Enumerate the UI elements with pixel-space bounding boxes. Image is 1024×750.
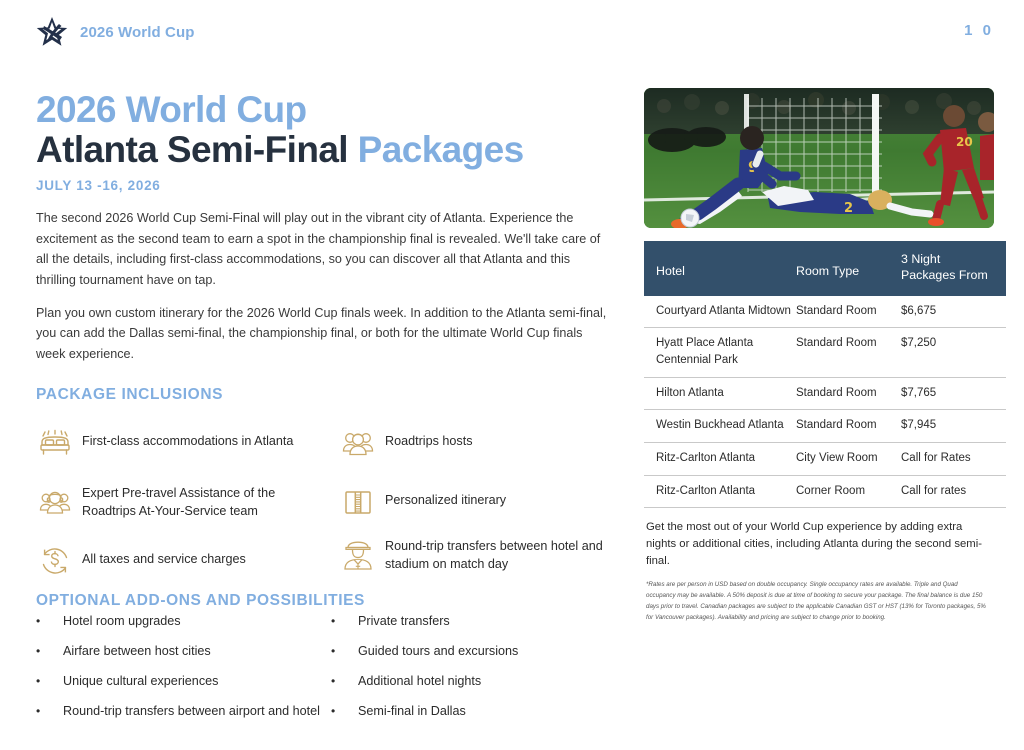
open-book-itinerary-icon — [339, 483, 377, 521]
page-number: 1 0 — [964, 22, 994, 39]
cell-price: $6,675 — [901, 296, 1006, 328]
cell-price: $7,945 — [901, 410, 1006, 443]
package-inclusions-list: First-class accommodations in Atlanta R — [36, 418, 616, 583]
bullet-icon: • — [36, 644, 63, 659]
inclusion-item-transfers: Round-trip transfers between hotel and s… — [339, 536, 629, 574]
column-header-room-type: Room Type — [796, 241, 901, 296]
inclusion-label: First-class accommodations in Atlanta — [82, 424, 293, 450]
cell-hotel: Hyatt Place Atlanta Centennial Park — [644, 328, 796, 377]
addon-label: Hotel room upgrades — [63, 614, 181, 629]
optional-addons-list: • Hotel room upgrades • Airfare between … — [36, 614, 626, 734]
addon-label: Additional hotel nights — [358, 674, 481, 689]
addon-label: Private transfers — [358, 614, 450, 629]
cell-price: $7,250 — [901, 328, 1006, 377]
addon-label: Round-trip transfers between airport and… — [63, 704, 320, 719]
support-agent-icon — [36, 483, 74, 521]
bullet-icon: • — [36, 614, 63, 629]
left-content-column: 2026 World Cup Atlanta Semi-Final Packag… — [36, 90, 612, 583]
inclusion-item-hosts: Roadtrips hosts — [339, 424, 629, 462]
price-header-line-2: Packages From — [901, 268, 988, 282]
addons-column-left: • Hotel room upgrades • Airfare between … — [36, 614, 331, 734]
rates-fineprint-disclaimer: *Rates are per person in USD based on do… — [644, 580, 986, 623]
bullet-icon: • — [36, 704, 63, 719]
page-title-line-1: 2026 World Cup — [36, 90, 612, 129]
inclusion-item-pretravel-assistance: Expert Pre-travel Assistance of the Road… — [36, 483, 326, 521]
inclusion-label: Personalized itinerary — [385, 483, 506, 509]
price-header-line-1: 3 Night — [901, 252, 940, 266]
bullet-icon: • — [331, 674, 358, 689]
intro-paragraph-2: Plan you own custom itinerary for the 20… — [36, 303, 612, 364]
inclusion-label: Expert Pre-travel Assistance of the Road… — [82, 483, 326, 521]
table-row: Ritz-Carlton Atlanta City View Room Call… — [644, 443, 1006, 476]
rates-table-body: Courtyard Atlanta Midtown Standard Room … — [644, 296, 1006, 508]
addon-item: • Additional hotel nights — [331, 674, 626, 689]
table-row: Ritz-Carlton Atlanta Corner Room Call fo… — [644, 475, 1006, 508]
dollar-refresh-icon — [36, 542, 74, 580]
cell-hotel: Courtyard Atlanta Midtown — [644, 296, 796, 328]
right-content-column: 9 2 — [644, 88, 994, 624]
chauffeur-icon — [339, 536, 377, 574]
page-header: 2026 World Cup 1 0 — [0, 0, 1024, 66]
addon-label: Unique cultural experiences — [63, 674, 218, 689]
cell-room-type: Standard Room — [796, 328, 901, 377]
addon-item: • Private transfers — [331, 614, 626, 629]
inclusion-label: Roadtrips hosts — [385, 424, 473, 450]
inclusion-item-accommodations: First-class accommodations in Atlanta — [36, 424, 326, 462]
brochure-page: 2026 World Cup 1 0 2026 World Cup Atlant… — [0, 0, 1024, 750]
addon-item: • Guided tours and excursions — [331, 644, 626, 659]
rates-table: Hotel Room Type 3 Night Packages From Co… — [644, 241, 1006, 508]
addon-item: • Unique cultural experiences — [36, 674, 331, 689]
world-cup-match-photo: 9 2 — [644, 88, 994, 228]
event-date: JULY 13 -16, 2026 — [36, 178, 612, 193]
bullet-icon: • — [331, 614, 358, 629]
cell-price: $7,765 — [901, 377, 1006, 410]
package-inclusions-heading: PACKAGE INCLUSIONS — [36, 386, 612, 404]
inclusion-item-personalized-itinerary: Personalized itinerary — [339, 483, 629, 521]
cell-hotel: Ritz-Carlton Atlanta — [644, 443, 796, 476]
svg-text:20: 20 — [956, 135, 973, 149]
addon-label: Airfare between host cities — [63, 644, 211, 659]
optional-addons-heading: OPTIONAL ADD-ONS AND POSSIBILITIES — [36, 592, 365, 610]
inclusion-label: All taxes and service charges — [82, 542, 246, 568]
cell-room-type: Standard Room — [796, 296, 901, 328]
rates-table-header: Hotel Room Type 3 Night Packages From — [644, 241, 1006, 296]
table-row: Hyatt Place Atlanta Centennial Park Stan… — [644, 328, 1006, 377]
svg-text:2: 2 — [844, 201, 853, 216]
addon-item: • Round-trip transfers between airport a… — [36, 704, 331, 719]
hosts-group-icon — [339, 424, 377, 462]
cell-room-type: Standard Room — [796, 410, 901, 443]
bullet-icon: • — [331, 704, 358, 719]
cell-price: Call for rates — [901, 475, 1006, 508]
bullet-icon: • — [36, 674, 63, 689]
table-row: Hilton Atlanta Standard Room $7,765 — [644, 377, 1006, 410]
cell-hotel: Hilton Atlanta — [644, 377, 796, 410]
inclusion-item-taxes: All taxes and service charges — [36, 542, 326, 580]
cell-price: Call for Rates — [901, 443, 1006, 476]
cell-room-type: Corner Room — [796, 475, 901, 508]
page-title-line-2: Atlanta Semi-Final Packages — [36, 130, 612, 169]
addon-item: • Hotel room upgrades — [36, 614, 331, 629]
cell-room-type: City View Room — [796, 443, 901, 476]
header-brand-title: 2026 World Cup — [80, 24, 194, 41]
table-row: Westin Buckhead Atlanta Standard Room $7… — [644, 410, 1006, 443]
bullet-icon: • — [331, 644, 358, 659]
inclusion-label: Round-trip transfers between hotel and s… — [385, 536, 629, 574]
intro-paragraph-1: The second 2026 World Cup Semi-Final wil… — [36, 208, 612, 290]
roadtrips-star-logo — [34, 14, 70, 50]
table-header-row: Hotel Room Type 3 Night Packages From — [644, 241, 1006, 296]
cell-hotel: Ritz-Carlton Atlanta — [644, 475, 796, 508]
addon-item: • Semi-final in Dallas — [331, 704, 626, 719]
addon-item: • Airfare between host cities — [36, 644, 331, 659]
addons-column-right: • Private transfers • Guided tours and e… — [331, 614, 626, 734]
cell-room-type: Standard Room — [796, 377, 901, 410]
rates-note: Get the most out of your World Cup exper… — [644, 519, 994, 570]
page-title-dark-part: Atlanta Semi-Final — [36, 129, 358, 170]
column-header-price: 3 Night Packages From — [901, 241, 1006, 296]
cell-hotel: Westin Buckhead Atlanta — [644, 410, 796, 443]
bed-icon — [36, 424, 74, 462]
page-title-light-part: Packages — [358, 129, 524, 170]
addon-label: Semi-final in Dallas — [358, 704, 466, 719]
addon-label: Guided tours and excursions — [358, 644, 518, 659]
column-header-hotel: Hotel — [644, 241, 796, 296]
table-row: Courtyard Atlanta Midtown Standard Room … — [644, 296, 1006, 328]
